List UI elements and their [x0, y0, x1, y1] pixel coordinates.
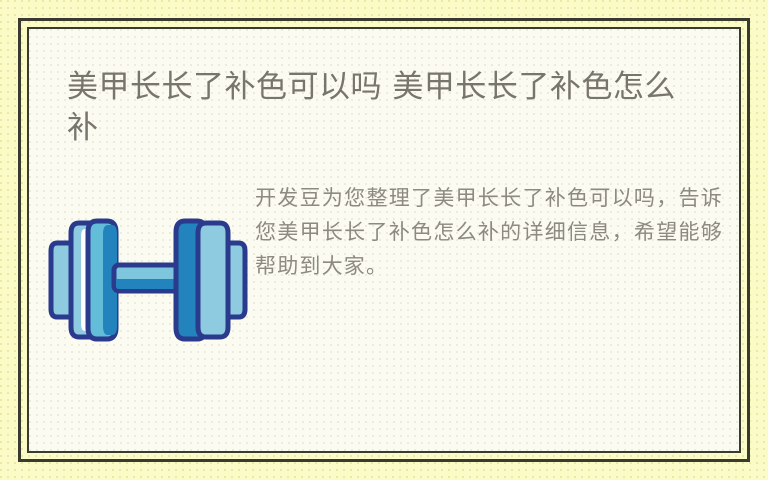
content-panel: 美甲长长了补色可以吗 美甲长长了补色怎么补 [27, 27, 741, 453]
article-summary: 开发豆为您整理了美甲长长了补色可以吗，告诉您美甲长长了补色怎么补的详细信息，希望… [255, 181, 741, 283]
dumbbell-right-plate-front [198, 223, 228, 337]
dumbbell-icon [45, 205, 253, 355]
article-body-row: 开发豆为您整理了美甲长长了补色可以吗，告诉您美甲长长了补色怎么补的详细信息，希望… [29, 181, 741, 411]
page-title: 美甲长长了补色可以吗 美甲长长了补色怎么补 [67, 67, 707, 149]
illustration-container [43, 205, 255, 355]
dumbbell-right-outer-plate [228, 243, 245, 317]
page-background: 美甲长长了补色可以吗 美甲长长了补色怎么补 [0, 0, 768, 480]
